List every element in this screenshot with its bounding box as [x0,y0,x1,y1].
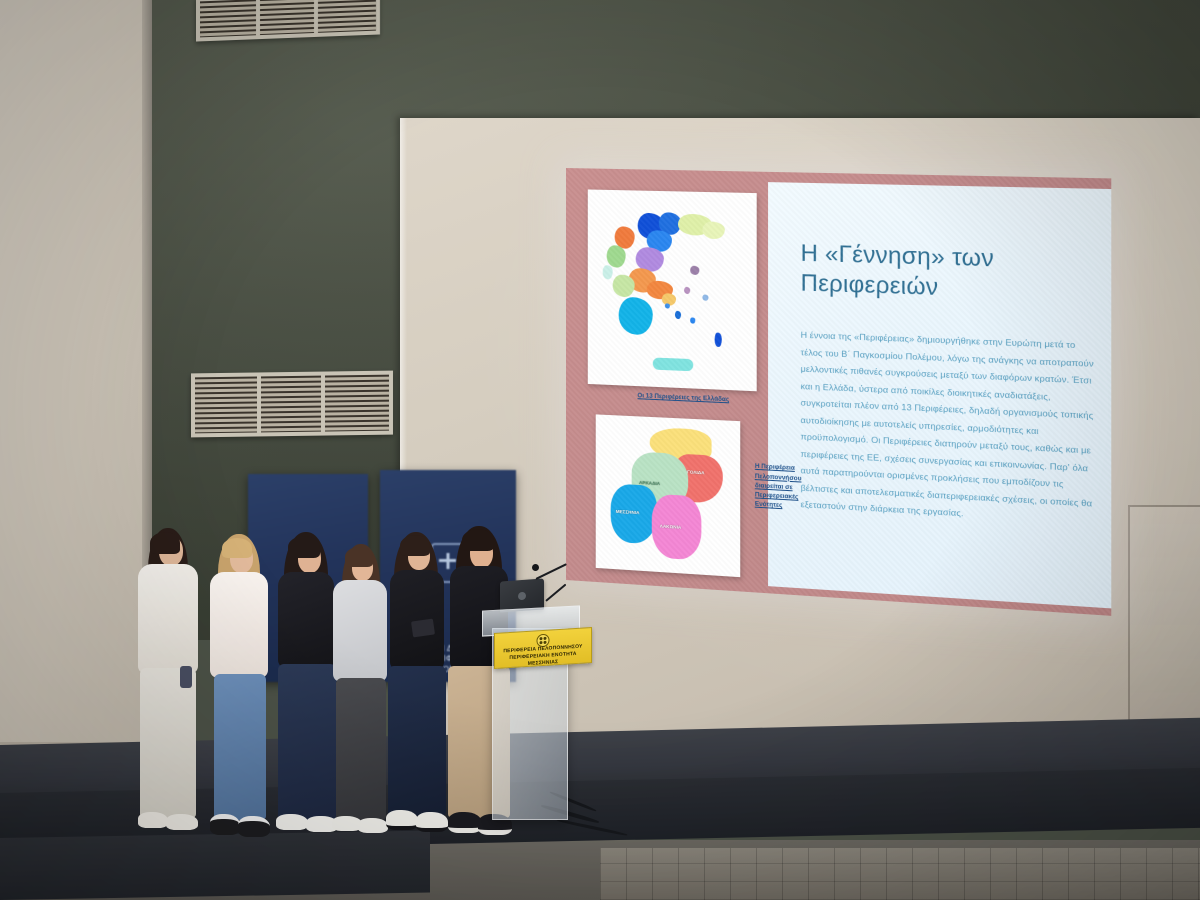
presentation-scene: Η «Γέννηση» των Περιφερειών Η έννοια της… [0,0,1200,900]
peloponnese-label-messinia: ΜΕΣΣΗΝΙΑ [616,509,640,515]
student-5-tablet [411,619,435,638]
slide-body-paragraph: Η έννοια της «Περιφέρειας» δημιουργήθηκε… [801,327,1094,530]
peloponnese-map-caption: Η Περιφέρεια Πελοποννήσου διαιρείται σε … [755,462,820,513]
presentation-slide: Η «Γέννηση» των Περιφερειών Η έννοια της… [566,168,1111,616]
peloponnese-map-card: ΑΡΓΟΛΙΔΑ ΑΡΚΑΔΙΑ ΜΕΣΣΗΝΙΑ ΛΑΚΩΝΙΑ [596,415,741,577]
student-4 [330,544,392,840]
student-2 [206,534,274,840]
greece-regions-map-card [588,190,756,391]
floor-tiles [600,848,1200,900]
ventilation-grille-top [196,0,380,42]
peloponnese-map: ΑΡΓΟΛΙΔΑ ΑΡΚΑΔΙΑ ΜΕΣΣΗΝΙΑ ΛΑΚΩΝΙΑ [603,422,733,568]
student-5 [384,532,450,838]
left-wall-column [0,0,152,745]
ventilation-grille-middle [191,371,393,438]
projection-screen: Η «Γέννηση» των Περιφερειών Η έννοια της… [566,168,1111,616]
slide-title: Η «Γέννηση» των Περιφερειών [801,238,1097,308]
student-1-phone [180,666,192,688]
podium-sign: ΠΕΡΙΦΕΡΕΙΑ ΠΕΛΟΠΟΝΝΗΣΟΥ ΠΕΡΙΦΕΡΕΙΑΚΗ ΕΝΟ… [494,627,592,669]
greece-map-caption: Οι 13 Περιφέρειες της Ελλάδας [600,389,769,406]
microphone-head-icon [532,564,539,571]
student-1 [132,528,204,840]
stage-step [0,830,430,900]
laptop-logo-icon [518,591,526,600]
greece-map [595,202,750,379]
